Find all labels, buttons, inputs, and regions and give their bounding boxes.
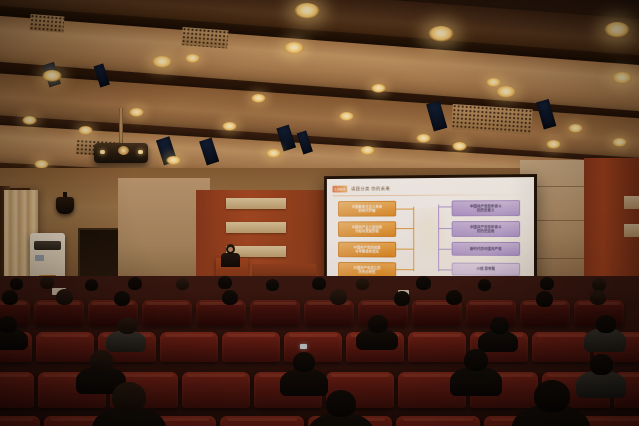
attendee-head <box>114 291 130 306</box>
slide-connector <box>396 228 414 229</box>
slide-box-left: 中国共产主义运动的 兴起与发展历程 <box>338 221 396 237</box>
ceiling-downlight <box>185 54 200 63</box>
acoustic-grille-icon <box>29 14 64 33</box>
projection-screen: LOGO 课题分类 你的未来 中国新民主主义革命 的伟大开端 中国共产主 <box>327 177 534 291</box>
attendee-head <box>326 390 356 417</box>
wall-speaker <box>56 197 74 214</box>
attendee-head <box>0 316 17 333</box>
ceiling-downlight <box>612 72 632 84</box>
seat <box>142 300 192 326</box>
ceiling-downlight <box>360 146 375 155</box>
slide-connector <box>396 269 414 270</box>
ceiling-downlight <box>568 124 583 133</box>
slide-connector <box>396 209 414 210</box>
slide-center-artwork <box>409 207 445 260</box>
seat <box>304 300 354 326</box>
seat <box>36 332 94 362</box>
ac-vent-grille-icon <box>34 241 61 250</box>
conference-hall-photo: LOGO 课题分类 你的未来 中国新民主主义革命 的伟大开端 中国共产主 <box>0 0 639 426</box>
acoustic-grille-icon <box>181 27 228 48</box>
slide-box-text: 中国共产党百年奋斗 的历史经验 <box>470 225 502 234</box>
slide-connector <box>396 249 414 250</box>
attendee-head <box>90 350 113 371</box>
backdrop-panel <box>226 222 286 233</box>
slide-box-text: 小结 思考题 <box>476 267 495 272</box>
attendee-head <box>490 317 509 334</box>
slide-box-text: 中国共产党的创建 与早期革命活动 <box>353 245 380 254</box>
slide-box-left: 中国共产党的创建 与早期革命活动 <box>338 242 396 258</box>
seat <box>182 372 250 408</box>
slide-connector <box>438 249 451 250</box>
slide-logo-icon: LOGO <box>332 186 347 193</box>
attendee-head <box>596 315 616 333</box>
presenter-face <box>228 247 233 252</box>
slide-box-left: 中国新民主主义革命 的伟大开端 <box>338 201 396 217</box>
ceiling-downlight <box>428 26 454 42</box>
attendee-head <box>464 349 488 371</box>
seat <box>396 416 480 426</box>
attendee-head <box>536 291 553 307</box>
attendee-head <box>118 317 137 334</box>
slide-box-text: 中国共产主义运动的 兴起与发展历程 <box>352 225 382 234</box>
projector-indicator-light <box>138 150 143 154</box>
attendee-head <box>394 291 410 306</box>
attendee-head <box>590 354 613 375</box>
slide-logo-text: LOGO <box>335 187 345 192</box>
attendee-head <box>590 290 606 305</box>
slide-connector <box>413 207 414 272</box>
seat <box>0 416 40 426</box>
ceiling-downlight <box>78 126 93 135</box>
slide-box-text: 中国共产党百年奋斗 的历史意义 <box>470 204 502 213</box>
attendee-head <box>293 352 315 372</box>
attendee-head <box>330 289 347 305</box>
projector-mount-pole <box>119 108 123 146</box>
ceiling-downlight <box>222 122 237 131</box>
attendee-head <box>176 278 189 290</box>
backdrop-panel <box>226 198 286 209</box>
attendee-head <box>478 279 491 291</box>
attendee-head <box>312 277 326 290</box>
acoustic-grille-icon <box>451 104 532 134</box>
slide-connector <box>438 228 451 229</box>
seat <box>408 332 466 362</box>
slide-header-text: 课题分类 你的未来 <box>351 186 390 192</box>
ceiling-downlight <box>166 156 181 165</box>
attendee-head <box>56 289 73 305</box>
ceiling-downlight <box>612 138 627 147</box>
ceiling-downlight <box>486 78 501 87</box>
phone-screen <box>300 344 307 349</box>
slide-connector <box>438 269 451 270</box>
audience-seating <box>0 276 639 426</box>
slide-box-right: 中国共产党百年奋斗 的历史意义 <box>452 200 520 216</box>
seat <box>222 332 280 362</box>
ceiling-downlight <box>416 134 431 143</box>
ceiling-downlight <box>371 84 386 93</box>
attendee-head <box>356 278 369 290</box>
attendee-head <box>112 382 146 412</box>
projector-indicator-light <box>100 150 105 154</box>
attendee-head <box>85 279 98 291</box>
ceiling-downlight <box>152 56 172 68</box>
seat <box>160 332 218 362</box>
slide-box-text: 中国共产党成立的 历史必然性 <box>353 265 380 274</box>
seat <box>250 300 300 326</box>
ceiling-downlight <box>604 22 630 38</box>
ceiling-downlight <box>42 70 62 82</box>
ceiling-downlight <box>294 3 320 19</box>
slide-box-right: 小结 思考题 <box>452 263 520 276</box>
attendee-head <box>2 290 18 305</box>
attendee-head <box>534 380 570 412</box>
attendee-head <box>266 279 279 291</box>
seat <box>220 416 304 426</box>
attendee-head <box>446 290 462 305</box>
attendee-head <box>222 290 238 305</box>
attendee-head <box>416 276 431 290</box>
ceiling-downlight <box>546 140 561 149</box>
ceiling-downlight <box>129 108 144 117</box>
slide-box-right: 新时代的中国共产党 <box>452 242 520 256</box>
slide-connector <box>438 205 439 272</box>
attendee-head <box>540 277 554 290</box>
seat <box>196 300 246 326</box>
ceiling-downlight <box>496 86 516 98</box>
ceiling-downlight <box>266 149 281 158</box>
slide-box-text: 新时代的中国共产党 <box>470 247 502 252</box>
attendee-head <box>218 276 232 289</box>
ceiling-downlight <box>339 112 354 121</box>
wall-plaque <box>624 196 639 209</box>
slide-box-text: 中国新民主主义革命 的伟大开端 <box>352 204 382 213</box>
slide-header: LOGO 课题分类 你的未来 <box>332 182 528 194</box>
ceiling-downlight <box>284 42 304 54</box>
ac-control-panel <box>35 255 44 261</box>
slide-box-right: 中国共产党百年奋斗 的历史经验 <box>452 221 520 237</box>
ceiling-downlight <box>22 116 37 125</box>
slide-connector <box>438 206 451 207</box>
attendee-head <box>368 315 388 333</box>
slide-header-rule <box>332 194 528 196</box>
attendee-head <box>128 277 142 290</box>
ceiling-downlight <box>452 142 467 151</box>
attendee-shoulders <box>280 368 328 396</box>
wall-plaque <box>624 224 639 237</box>
seat <box>532 332 590 362</box>
seat <box>0 372 34 408</box>
attendee-head <box>592 278 606 291</box>
attendee-head <box>10 278 23 290</box>
presenter-body <box>221 253 240 267</box>
ceiling-downlight <box>251 94 266 103</box>
projector-lens-icon <box>118 146 129 155</box>
